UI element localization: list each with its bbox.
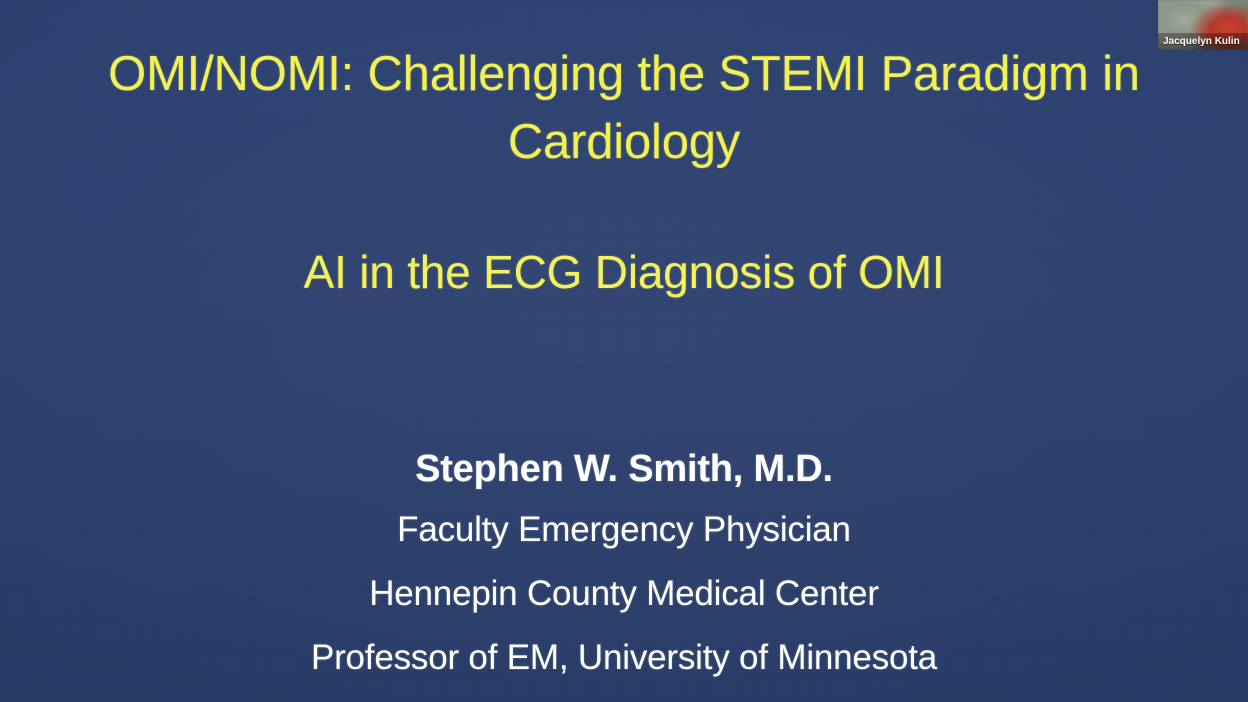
presenter-affiliation-1: Faculty Emergency Physician <box>0 498 1248 562</box>
slide-title-line-1: OMI/NOMI: Challenging the STEMI Paradigm… <box>108 47 1140 101</box>
presenter-name: Stephen W. Smith, M.D. <box>0 440 1248 498</box>
participant-video-tile[interactable]: Jacquelyn Kulin <box>1158 0 1248 50</box>
slide-subtitle: AI in the ECG Diagnosis of OMI <box>0 242 1248 302</box>
presenter-block: Stephen W. Smith, M.D. Faculty Emergency… <box>0 440 1248 690</box>
slide-subtitle-text: AI in the ECG Diagnosis of OMI <box>304 246 945 298</box>
presenter-affiliation-3: Professor of EM, University of Minnesota <box>0 626 1248 690</box>
slide-title-line-2: Cardiology <box>508 115 740 169</box>
participant-name-bar: Jacquelyn Kulin <box>1158 33 1248 50</box>
slide-title: OMI/NOMI: Challenging the STEMI Paradigm… <box>0 40 1248 176</box>
participant-name-label: Jacquelyn Kulin <box>1158 33 1240 50</box>
presenter-affiliation-2: Hennepin County Medical Center <box>0 562 1248 626</box>
screen-share-view: OMI/NOMI: Challenging the STEMI Paradigm… <box>0 0 1248 702</box>
presentation-slide: OMI/NOMI: Challenging the STEMI Paradigm… <box>0 0 1248 702</box>
